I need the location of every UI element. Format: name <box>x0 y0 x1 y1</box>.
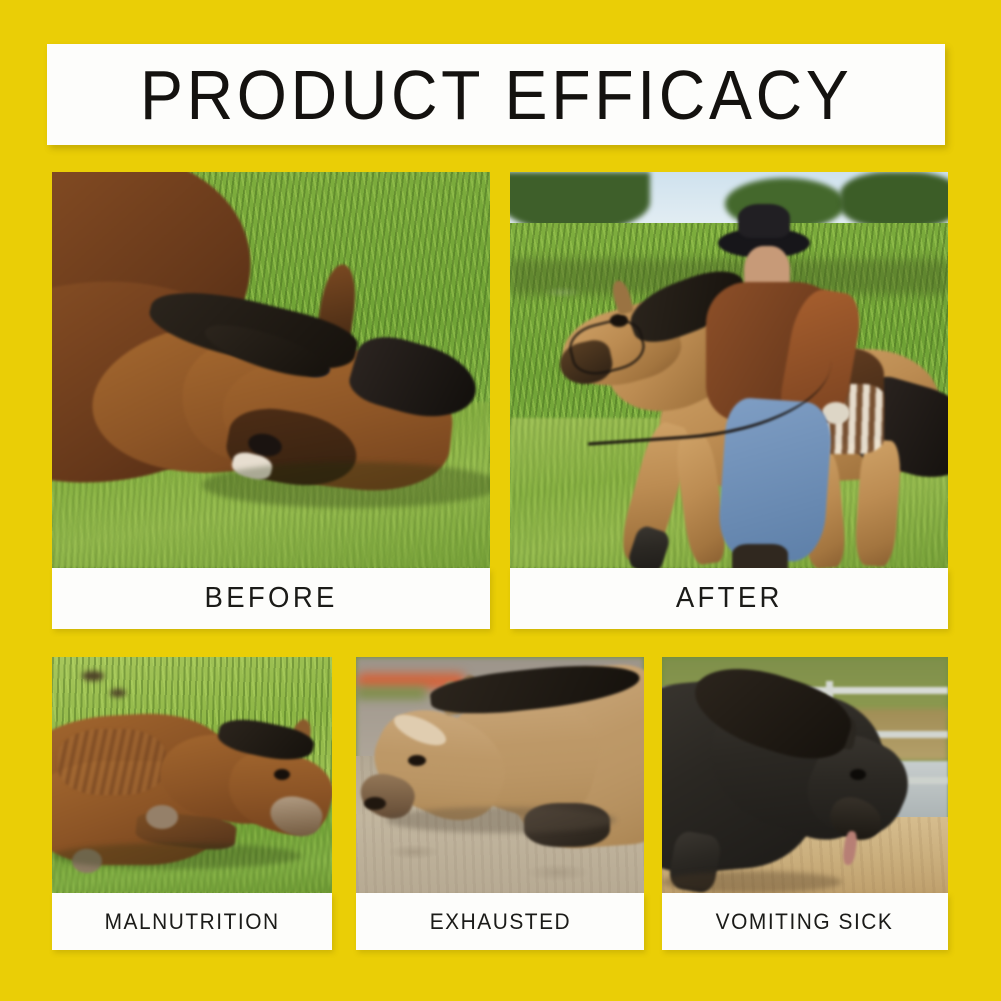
poster-canvas: PRODUCT EFFICACY BEFORE <box>0 0 1001 1001</box>
page-title-banner: PRODUCT EFFICACY <box>47 44 945 145</box>
caption-exhausted-label: EXHAUSTED <box>429 909 570 935</box>
exh-green-patch <box>356 687 426 699</box>
caption-after-label: AFTER <box>676 582 783 615</box>
caption-after: AFTER <box>510 568 948 629</box>
photo-vomiting <box>662 657 948 893</box>
vom-horse-eye <box>850 769 866 780</box>
photo-malnutrition-image <box>52 657 332 893</box>
exh-horse-eye <box>408 755 426 766</box>
photo-malnutrition <box>52 657 332 893</box>
mal-horse-eye <box>274 769 290 780</box>
rider-hat-crown <box>738 204 790 238</box>
tree-right <box>840 172 948 228</box>
photo-vomiting-image <box>662 657 948 893</box>
photo-exhausted-image <box>356 657 644 893</box>
photo-after-image <box>510 172 948 568</box>
page-title: PRODUCT EFFICACY <box>140 60 852 130</box>
mal-horse-ribs <box>58 729 166 795</box>
mal-horse-hoof-a <box>146 805 178 829</box>
photo-exhausted <box>356 657 644 893</box>
caption-vomiting-label: VOMITING SICK <box>716 909 894 935</box>
caption-malnutrition-label: MALNUTRITION <box>104 909 279 935</box>
ground-shadow <box>202 462 490 508</box>
mal-ground-shadow <box>52 843 302 869</box>
exh-horse-nostril <box>364 797 386 810</box>
photo-before <box>52 172 490 568</box>
caption-vomiting: VOMITING SICK <box>662 893 948 950</box>
rider-boot <box>732 544 788 568</box>
photo-after <box>510 172 948 568</box>
caption-malnutrition: MALNUTRITION <box>52 893 332 950</box>
mal-dirt-clod-a <box>82 671 104 681</box>
caption-exhausted: EXHAUSTED <box>356 893 644 950</box>
caption-before-label: BEFORE <box>204 582 337 615</box>
vom-ground-shadow <box>662 871 842 893</box>
exh-ground-shadow <box>386 807 616 833</box>
mal-dirt-clod-b <box>110 689 126 697</box>
photo-before-image <box>52 172 490 568</box>
caption-before: BEFORE <box>52 568 490 629</box>
